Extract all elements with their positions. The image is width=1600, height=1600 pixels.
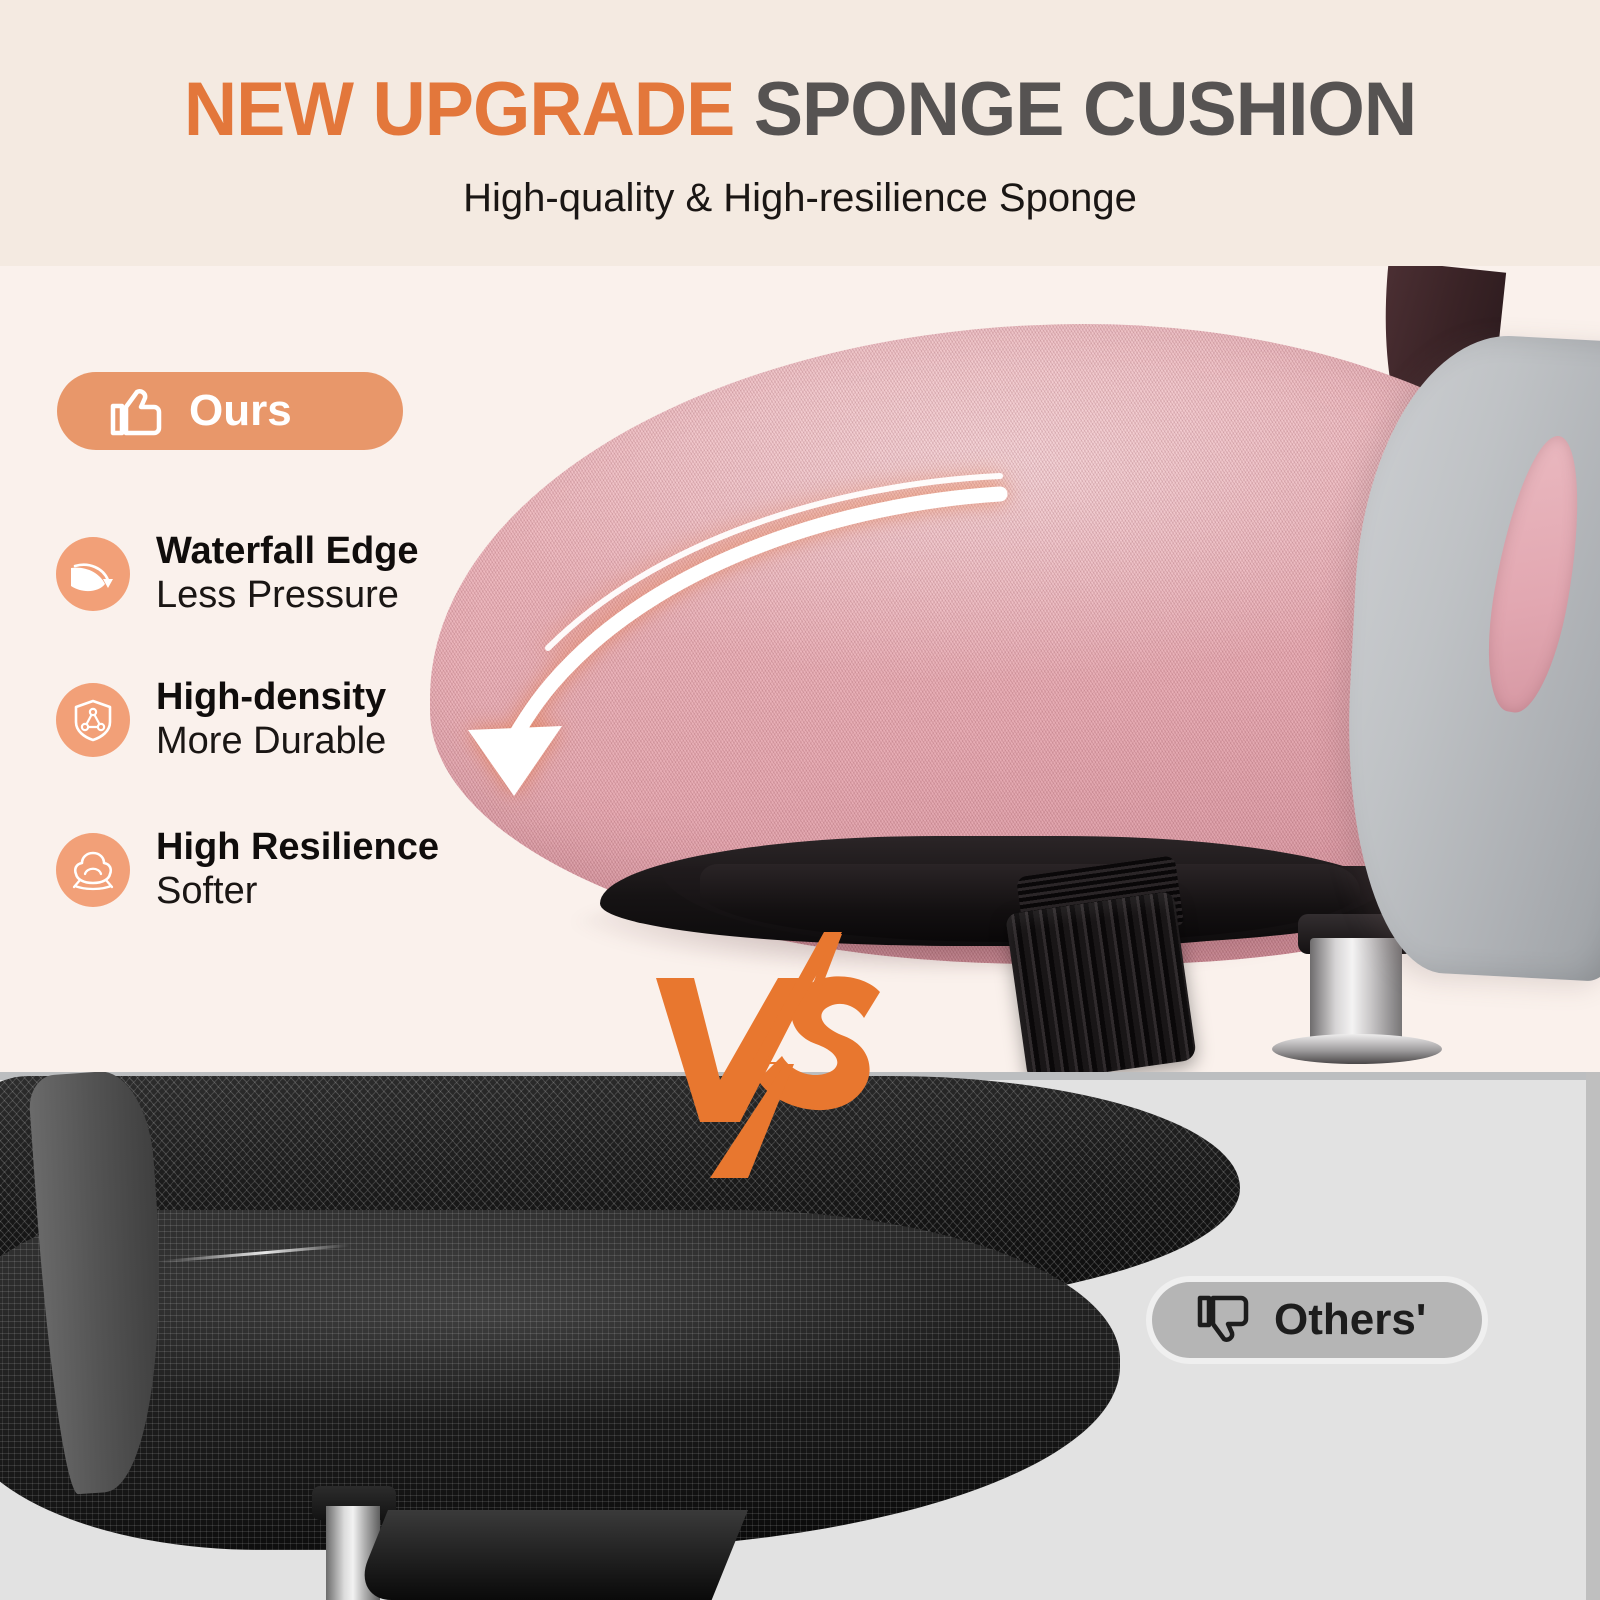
product-comparison-infographic: NEW UPGRADE SPONGE CUSHION High-quality … (0, 0, 1600, 1600)
feature-text: High Resilience Softer (156, 826, 439, 913)
thumbs-up-icon (107, 385, 163, 437)
feature-title: High Resilience (156, 826, 439, 869)
feature-title: High-density (156, 676, 386, 719)
feature-subtitle: Softer (156, 869, 439, 914)
page-title: NEW UPGRADE SPONGE CUSHION (24, 72, 1576, 148)
page-title-rest: SPONGE CUSHION (754, 67, 1416, 152)
others-badge-label: Others' (1274, 1298, 1426, 1342)
cushion-resilience-icon (56, 833, 130, 907)
page-title-highlight: NEW UPGRADE (184, 67, 754, 152)
vs-divider-graphic (628, 930, 888, 1180)
feature-text: High-density More Durable (156, 676, 386, 763)
waterfall-edge-icon (56, 537, 130, 611)
ours-badge-label: Ours (189, 389, 292, 433)
feature-item-high-resilience: High Resilience Softer (56, 826, 439, 913)
black-chair-base-leg (352, 1510, 748, 1600)
ours-badge[interactable]: Ours (57, 372, 403, 450)
gas-cylinder-base (1272, 1034, 1442, 1064)
height-adjust-knob (1005, 891, 1197, 1072)
header-band: NEW UPGRADE SPONGE CUSHION High-quality … (0, 0, 1600, 266)
feature-text: Waterfall Edge Less Pressure (156, 530, 419, 617)
feature-title: Waterfall Edge (156, 530, 419, 573)
feature-subtitle: More Durable (156, 719, 386, 764)
page-subtitle: High-quality & High-resilience Sponge (0, 178, 1600, 218)
feature-item-waterfall-edge: Waterfall Edge Less Pressure (56, 530, 419, 617)
feature-item-high-density: High-density More Durable (56, 676, 386, 763)
others-badge[interactable]: Others' (1152, 1282, 1482, 1358)
shield-density-icon (56, 683, 130, 757)
feature-subtitle: Less Pressure (156, 573, 419, 618)
thumbs-down-icon (1194, 1294, 1250, 1346)
